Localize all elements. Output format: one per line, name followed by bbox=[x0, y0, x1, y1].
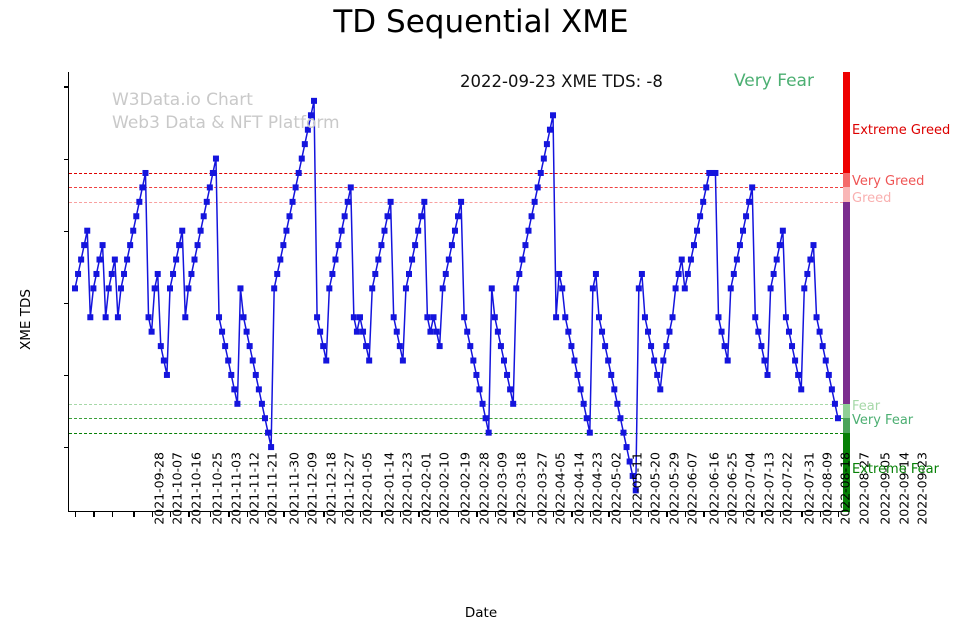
series-marker bbox=[204, 199, 210, 205]
series-marker bbox=[336, 242, 342, 248]
series-marker bbox=[280, 242, 286, 248]
series-marker bbox=[262, 415, 268, 421]
x-tick-label: 2022-05-29 bbox=[666, 452, 681, 525]
series-marker bbox=[731, 271, 737, 277]
series-marker bbox=[605, 358, 611, 364]
series-marker bbox=[755, 329, 761, 335]
series-marker bbox=[584, 415, 590, 421]
x-tick-label: 2022-06-25 bbox=[725, 452, 740, 525]
series-marker bbox=[78, 257, 84, 263]
series-marker bbox=[354, 329, 360, 335]
series-marker bbox=[167, 285, 173, 291]
series-marker bbox=[302, 141, 308, 147]
series-marker bbox=[139, 184, 145, 190]
series-marker bbox=[431, 314, 437, 320]
series-marker bbox=[268, 444, 274, 450]
series-marker bbox=[109, 271, 115, 277]
series-marker bbox=[296, 170, 302, 176]
series-marker bbox=[777, 242, 783, 248]
series-marker bbox=[691, 242, 697, 248]
series-marker bbox=[311, 98, 317, 104]
series-marker bbox=[198, 228, 204, 234]
x-tick-label: 2022-03-27 bbox=[535, 452, 550, 525]
x-tick-label: 2021-10-16 bbox=[188, 452, 203, 525]
series-marker bbox=[682, 285, 688, 291]
series-marker bbox=[786, 329, 792, 335]
series-marker bbox=[287, 213, 293, 219]
series-marker bbox=[461, 314, 467, 320]
series-marker bbox=[424, 314, 430, 320]
series-marker bbox=[617, 415, 623, 421]
series-marker bbox=[835, 415, 841, 421]
series-marker bbox=[170, 271, 176, 277]
series-marker bbox=[241, 314, 247, 320]
series-marker bbox=[599, 329, 605, 335]
x-tick-label: 2022-02-10 bbox=[437, 452, 452, 525]
series-marker bbox=[526, 228, 532, 234]
series-marker bbox=[372, 271, 378, 277]
x-tick-label: 2022-08-18 bbox=[838, 452, 853, 525]
series-marker bbox=[87, 314, 93, 320]
series-marker bbox=[801, 285, 807, 291]
series-marker bbox=[648, 343, 654, 349]
series-marker bbox=[581, 401, 587, 407]
x-tick-mark bbox=[133, 512, 134, 517]
series-marker bbox=[182, 314, 188, 320]
y-tick-mark bbox=[64, 231, 69, 232]
x-tick-label: 2022-06-16 bbox=[706, 452, 721, 525]
x-tick-mark bbox=[532, 512, 533, 517]
series-marker bbox=[725, 358, 731, 364]
series-marker bbox=[611, 386, 617, 392]
series-marker bbox=[142, 170, 148, 176]
series-line bbox=[75, 101, 838, 491]
y-tick-mark bbox=[64, 159, 69, 160]
series-marker bbox=[195, 242, 201, 248]
series-marker bbox=[743, 213, 749, 219]
series-marker bbox=[486, 430, 492, 436]
series-marker bbox=[510, 401, 516, 407]
y-tick-mark bbox=[64, 303, 69, 304]
x-tick-mark bbox=[112, 512, 113, 517]
x-tick-label: 2021-11-30 bbox=[286, 452, 301, 525]
series-marker bbox=[250, 358, 256, 364]
series-marker bbox=[440, 285, 446, 291]
series-marker bbox=[529, 213, 535, 219]
series-marker bbox=[483, 415, 489, 421]
series-marker bbox=[332, 257, 338, 263]
series-marker bbox=[761, 358, 767, 364]
x-tick-label: 2022-05-11 bbox=[630, 452, 645, 525]
series-marker bbox=[602, 343, 608, 349]
zone-label-greed: Greed bbox=[852, 191, 891, 206]
series-marker bbox=[823, 358, 829, 364]
series-marker bbox=[421, 199, 427, 205]
series-marker bbox=[363, 343, 369, 349]
series-marker bbox=[719, 329, 725, 335]
series-marker bbox=[663, 343, 669, 349]
series-marker bbox=[639, 271, 645, 277]
series-marker bbox=[697, 213, 703, 219]
series-marker bbox=[418, 213, 424, 219]
series-marker bbox=[495, 329, 501, 335]
y-tick-mark bbox=[64, 86, 69, 87]
series-marker bbox=[124, 257, 130, 263]
series-marker bbox=[513, 285, 519, 291]
series-marker bbox=[348, 184, 354, 190]
series-marker bbox=[222, 343, 228, 349]
x-tick-label: 2022-07-31 bbox=[801, 452, 816, 525]
series-marker bbox=[712, 170, 718, 176]
x-tick-mark bbox=[283, 512, 284, 517]
sentiment-colorbar bbox=[843, 68, 850, 516]
series-marker bbox=[75, 271, 81, 277]
series-marker bbox=[654, 372, 660, 378]
x-tick-label: 2022-05-02 bbox=[608, 452, 623, 525]
x-tick-label: 2021-12-27 bbox=[342, 452, 357, 525]
series-marker bbox=[219, 329, 225, 335]
series-marker bbox=[351, 314, 357, 320]
series-marker bbox=[149, 329, 155, 335]
series-marker bbox=[345, 199, 351, 205]
x-tick-label: 2022-04-14 bbox=[571, 452, 586, 525]
zone-label-very-fear: Very Fear bbox=[852, 413, 913, 428]
series-marker bbox=[133, 213, 139, 219]
series-marker bbox=[146, 314, 152, 320]
x-tick-label: 2021-12-09 bbox=[305, 452, 320, 525]
series-marker bbox=[339, 228, 345, 234]
x-tick-label: 2022-03-09 bbox=[495, 452, 510, 525]
series-marker bbox=[559, 285, 565, 291]
series-marker bbox=[201, 213, 207, 219]
x-tick-label: 2022-01-14 bbox=[381, 452, 396, 525]
series-marker bbox=[660, 358, 666, 364]
series-marker bbox=[596, 314, 602, 320]
series-marker bbox=[121, 271, 127, 277]
series-marker bbox=[299, 156, 305, 162]
series-marker bbox=[106, 285, 112, 291]
series-marker bbox=[516, 271, 522, 277]
series-marker bbox=[93, 271, 99, 277]
series-marker bbox=[492, 314, 498, 320]
colorbar-very-greed-seg bbox=[843, 173, 850, 187]
series-marker bbox=[593, 271, 599, 277]
series-marker bbox=[476, 386, 482, 392]
series-marker bbox=[277, 257, 283, 263]
series-marker bbox=[231, 386, 237, 392]
series-marker bbox=[415, 228, 421, 234]
series-marker bbox=[590, 285, 596, 291]
series-marker bbox=[253, 372, 259, 378]
x-tick-label: 2021-10-07 bbox=[170, 452, 185, 525]
series-marker bbox=[455, 213, 461, 219]
series-marker bbox=[676, 271, 682, 277]
series-marker bbox=[608, 372, 614, 378]
series-marker bbox=[100, 242, 106, 248]
series-marker bbox=[614, 401, 620, 407]
series-marker bbox=[176, 242, 182, 248]
x-tick-label: 2021-11-21 bbox=[265, 452, 280, 525]
series-marker bbox=[783, 314, 789, 320]
series-marker bbox=[225, 358, 231, 364]
series-marker bbox=[164, 372, 170, 378]
series-marker bbox=[810, 242, 816, 248]
series-marker bbox=[210, 170, 216, 176]
series-marker bbox=[535, 184, 541, 190]
zone-label-extreme-greed: Extreme Greed bbox=[852, 123, 950, 138]
series-marker bbox=[829, 386, 835, 392]
series-marker bbox=[814, 314, 820, 320]
x-tick-label: 2022-04-05 bbox=[553, 452, 568, 525]
series-marker bbox=[360, 329, 366, 335]
series-marker bbox=[703, 184, 709, 190]
series-marker bbox=[578, 386, 584, 392]
series-marker bbox=[357, 314, 363, 320]
series-marker bbox=[792, 358, 798, 364]
series-marker bbox=[473, 372, 479, 378]
series-marker bbox=[84, 228, 90, 234]
series-marker bbox=[504, 372, 510, 378]
series-marker bbox=[112, 257, 118, 263]
series-marker bbox=[320, 343, 326, 349]
series-marker bbox=[587, 430, 593, 436]
series-marker bbox=[81, 242, 87, 248]
series-marker bbox=[244, 329, 250, 335]
series-marker bbox=[216, 314, 222, 320]
series-marker bbox=[290, 199, 296, 205]
series-marker bbox=[651, 358, 657, 364]
series-marker bbox=[501, 358, 507, 364]
series-marker bbox=[642, 314, 648, 320]
series-marker bbox=[271, 285, 277, 291]
series-marker bbox=[780, 228, 786, 234]
series-marker bbox=[237, 285, 243, 291]
watermark-line-1: W3Data.io Chart bbox=[112, 90, 253, 110]
series-marker bbox=[571, 358, 577, 364]
series-marker bbox=[685, 271, 691, 277]
series-marker bbox=[449, 242, 455, 248]
y-tick-mark bbox=[64, 375, 69, 376]
series-marker bbox=[213, 156, 219, 162]
x-tick-label: 2021-11-03 bbox=[228, 452, 243, 525]
series-marker bbox=[427, 329, 433, 335]
x-tick-label: 2022-04-23 bbox=[590, 452, 605, 525]
series-marker bbox=[758, 343, 764, 349]
series-marker bbox=[556, 271, 562, 277]
series-marker bbox=[538, 170, 544, 176]
series-marker bbox=[621, 430, 627, 436]
series-marker bbox=[688, 257, 694, 263]
series-marker bbox=[409, 257, 415, 263]
series-marker bbox=[670, 314, 676, 320]
series-marker bbox=[734, 257, 740, 263]
series-marker bbox=[553, 314, 559, 320]
series-marker bbox=[326, 285, 332, 291]
series-marker bbox=[130, 228, 136, 234]
y-axis-label: XME TDS bbox=[18, 289, 34, 350]
series-marker bbox=[342, 213, 348, 219]
current-mood-annotation: Very Fear bbox=[734, 71, 814, 91]
series-marker bbox=[522, 242, 528, 248]
series-marker bbox=[179, 228, 185, 234]
colorbar-neutral-seg bbox=[843, 202, 850, 404]
series-marker bbox=[532, 199, 538, 205]
series-marker bbox=[437, 343, 443, 349]
series-marker bbox=[575, 372, 581, 378]
series-marker bbox=[90, 285, 96, 291]
plot-inner bbox=[69, 72, 843, 511]
series-marker bbox=[173, 257, 179, 263]
series-marker bbox=[826, 372, 832, 378]
x-tick-label: 2021-09-28 bbox=[152, 452, 167, 525]
colorbar-greed-seg bbox=[843, 187, 850, 201]
series-marker bbox=[694, 228, 700, 234]
series-marker bbox=[737, 242, 743, 248]
watermark-line-2: Web3 Data & NFT Platform bbox=[112, 113, 340, 133]
series-marker bbox=[158, 343, 164, 349]
series-marker bbox=[259, 401, 265, 407]
series-marker bbox=[480, 401, 486, 407]
y-tick-mark bbox=[64, 447, 69, 448]
series-marker bbox=[458, 199, 464, 205]
series-marker bbox=[795, 372, 801, 378]
series-marker bbox=[375, 257, 381, 263]
series-marker bbox=[470, 358, 476, 364]
series-marker bbox=[715, 314, 721, 320]
x-tick-label: 2021-12-18 bbox=[323, 452, 338, 525]
page-title: TD Sequential XME bbox=[0, 4, 962, 40]
series-marker bbox=[768, 285, 774, 291]
series-marker bbox=[666, 329, 672, 335]
series-marker bbox=[645, 329, 651, 335]
series-marker bbox=[406, 271, 412, 277]
x-tick-label: 2022-02-19 bbox=[458, 452, 473, 525]
series-marker bbox=[403, 285, 409, 291]
x-axis-label: Date bbox=[0, 605, 962, 621]
series-marker bbox=[820, 343, 826, 349]
series-marker bbox=[550, 112, 556, 118]
x-tick-label: 2022-02-01 bbox=[418, 452, 433, 525]
series-marker bbox=[467, 343, 473, 349]
current-value-annotation: 2022-09-23 XME TDS: -8 bbox=[460, 72, 663, 91]
x-tick-mark bbox=[75, 512, 76, 517]
series-marker bbox=[562, 314, 568, 320]
x-tick-label: 2022-01-23 bbox=[400, 452, 415, 525]
series-marker bbox=[97, 257, 103, 263]
series-marker bbox=[188, 271, 194, 277]
series-marker bbox=[247, 343, 253, 349]
series-marker bbox=[498, 343, 504, 349]
series-marker bbox=[369, 285, 375, 291]
series-marker bbox=[293, 184, 299, 190]
colorbar-extreme-greed-seg bbox=[843, 72, 850, 173]
series-marker bbox=[443, 271, 449, 277]
series-marker bbox=[489, 285, 495, 291]
series-marker bbox=[673, 285, 679, 291]
series-marker bbox=[722, 343, 728, 349]
series-marker bbox=[774, 257, 780, 263]
series-marker bbox=[789, 343, 795, 349]
x-tick-label: 2022-03-18 bbox=[513, 452, 528, 525]
series-marker bbox=[127, 242, 133, 248]
series-marker bbox=[228, 372, 234, 378]
series-marker bbox=[192, 257, 198, 263]
series-marker bbox=[366, 358, 372, 364]
series-marker bbox=[464, 329, 470, 335]
colorbar-fear-seg bbox=[843, 404, 850, 418]
series-marker bbox=[103, 314, 109, 320]
series-marker bbox=[749, 184, 755, 190]
zone-label-extreme-fear: Extreme Fear bbox=[852, 462, 939, 477]
colorbar-very-fear-seg bbox=[843, 418, 850, 432]
series-marker bbox=[798, 386, 804, 392]
series-marker bbox=[397, 343, 403, 349]
x-tick-label: 2022-01-05 bbox=[360, 452, 375, 525]
series-marker bbox=[323, 358, 329, 364]
series-marker bbox=[434, 329, 440, 335]
series-marker bbox=[700, 199, 706, 205]
series-marker bbox=[728, 285, 734, 291]
x-tick-label: 2022-07-22 bbox=[780, 452, 795, 525]
series-marker bbox=[446, 257, 452, 263]
series-marker bbox=[507, 386, 513, 392]
series-marker bbox=[765, 372, 771, 378]
zone-label-very-greed: Very Greed bbox=[852, 174, 924, 189]
x-tick-mark bbox=[703, 512, 704, 517]
series-marker bbox=[807, 257, 813, 263]
plot-area bbox=[68, 72, 843, 512]
series-marker bbox=[256, 386, 262, 392]
series-marker bbox=[568, 343, 574, 349]
series-marker bbox=[155, 271, 161, 277]
x-tick-label: 2021-11-12 bbox=[247, 452, 262, 525]
x-tick-label: 2022-06-07 bbox=[685, 452, 700, 525]
x-tick-label: 2021-10-25 bbox=[210, 452, 225, 525]
series-marker bbox=[412, 242, 418, 248]
series-marker bbox=[152, 285, 158, 291]
series-marker bbox=[72, 285, 78, 291]
x-tick-label: 2022-08-09 bbox=[820, 452, 835, 525]
x-tick-label: 2022-05-20 bbox=[648, 452, 663, 525]
series-marker bbox=[740, 228, 746, 234]
series-marker bbox=[115, 314, 121, 320]
series-marker bbox=[234, 401, 240, 407]
series-marker bbox=[118, 285, 124, 291]
series-marker bbox=[185, 285, 191, 291]
series-marker bbox=[274, 271, 280, 277]
series-marker bbox=[547, 127, 553, 133]
series-marker bbox=[624, 444, 630, 450]
x-tick-label: 2022-07-04 bbox=[743, 452, 758, 525]
series-marker bbox=[283, 228, 289, 234]
series-marker bbox=[746, 199, 752, 205]
series-marker bbox=[314, 314, 320, 320]
series-marker bbox=[378, 242, 384, 248]
series-marker bbox=[329, 271, 335, 277]
series-marker bbox=[804, 271, 810, 277]
series-marker bbox=[400, 358, 406, 364]
series-marker bbox=[136, 199, 142, 205]
series-marker bbox=[391, 314, 397, 320]
chart-root: TD Sequential XME XME TDS Date 151050−5−… bbox=[0, 0, 962, 633]
series-marker bbox=[385, 213, 391, 219]
series-marker bbox=[265, 430, 271, 436]
series-marker bbox=[544, 141, 550, 147]
series-marker bbox=[317, 329, 323, 335]
series-marker bbox=[636, 285, 642, 291]
series-marker bbox=[207, 184, 213, 190]
series-marker bbox=[541, 156, 547, 162]
